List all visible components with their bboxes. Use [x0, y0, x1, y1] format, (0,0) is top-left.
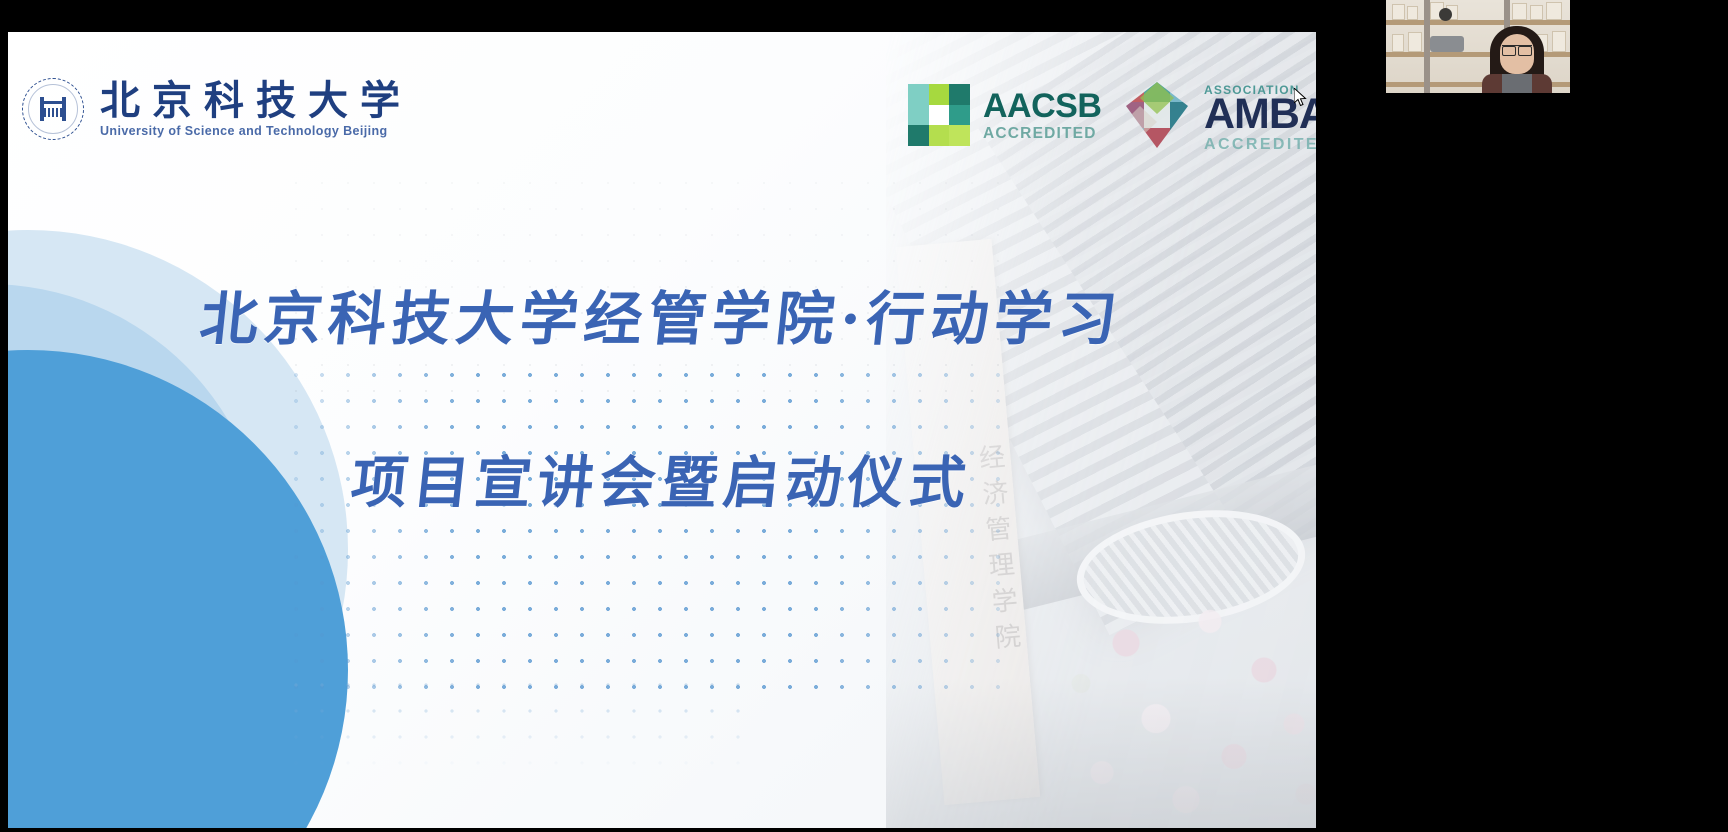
webcam-person [1482, 26, 1552, 93]
dot-pattern-blue-lower [283, 672, 743, 772]
slide-title-line-1: 北京科技大学经管学院·行动学习 [8, 272, 1316, 356]
ustb-name-cn: 北京科技大学 [100, 80, 412, 122]
mouse-pointer-icon [1294, 88, 1308, 108]
amba-accredited-label: ACCREDITED [1204, 137, 1316, 153]
screen-root: 经济管理学院 北京科技大学 University of Science and … [0, 0, 1728, 832]
shared-slide[interactable]: 经济管理学院 北京科技大学 University of Science and … [8, 32, 1316, 828]
amba-logo: ASSOCIATION AMBA ACCREDITED [1118, 76, 1316, 154]
slide-title-line-2: 项目宣讲会暨启动仪式 [8, 438, 1316, 519]
slide-title-block: 北京科技大学经管学院·行动学习 项目宣讲会暨启动仪式 [8, 272, 1316, 519]
aacsb-mosaic-icon [908, 84, 970, 146]
participant-video-thumbnail[interactable] [1386, 0, 1570, 93]
ustb-logo: 北京科技大学 University of Science and Technol… [22, 78, 412, 140]
glasses-icon [1502, 45, 1532, 53]
ustb-name-en: University of Science and Technology Bei… [100, 124, 412, 138]
aacsb-logo: AACSB ACCREDITED [908, 84, 1101, 146]
aacsb-accredited-label: ACCREDITED [983, 126, 1101, 142]
aacsb-wordmark: AACSB [983, 89, 1101, 123]
ustb-crest-icon [22, 78, 84, 140]
logo-row: 北京科技大学 University of Science and Technol… [8, 32, 1316, 152]
amba-gem-icon [1118, 76, 1196, 154]
